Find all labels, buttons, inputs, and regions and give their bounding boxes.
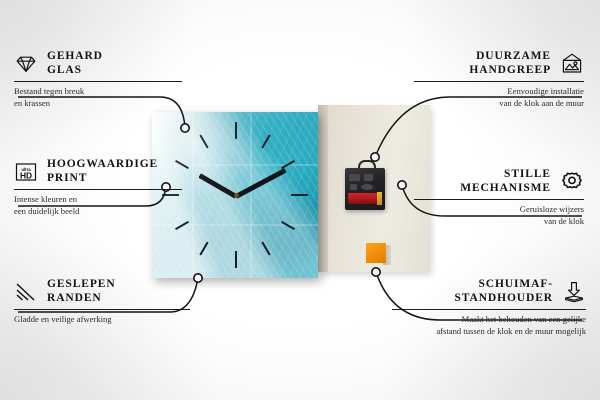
feature-hoogwaardige-print: ultra HD HOOGWAARDIGE PRINT Intense kleu… (14, 158, 184, 217)
feature-divider (414, 81, 584, 82)
mechanism-detail-d (361, 184, 373, 190)
feature-divider (14, 81, 182, 82)
feature-description: Geruisloze wijzers van de klok (412, 204, 584, 226)
feature-title: STILLE MECHANISME (412, 168, 551, 195)
diamond-icon (14, 52, 38, 76)
feature-schuimafstandhouder: SCHUIMAF- STANDHOUDER Maakt het behouden… (390, 278, 586, 337)
wall-panel-edge (318, 105, 328, 272)
down-arrow-stack-icon (562, 280, 586, 304)
foam-spacer[interactable] (366, 243, 386, 263)
ultra-hd-icon: ultra HD (14, 160, 38, 184)
feature-title: HOOGWAARDIGE PRINT (47, 158, 158, 185)
feature-divider (14, 309, 190, 310)
feature-title: DUURZAME HANDGREEP (412, 50, 551, 77)
feature-description: Eenvoudige installatie van de klok aan d… (412, 86, 584, 108)
beveled-edges-icon (14, 280, 38, 304)
feature-description: Gladde en veilige afwerking (14, 314, 192, 325)
feature-header: SCHUIMAF- STANDHOUDER (390, 278, 586, 305)
feature-title: SCHUIMAF- STANDHOUDER (390, 278, 553, 305)
feature-description: Bestand tegen breuk en krassen (14, 86, 184, 108)
feature-header: GESLEPEN RANDEN (14, 278, 192, 305)
infographic-canvas: GEHARD GLAS Bestand tegen breuk en krass… (0, 0, 600, 400)
feature-title: GESLEPEN RANDEN (47, 278, 116, 305)
feature-divider (14, 189, 182, 190)
picture-frame-icon (560, 52, 584, 76)
feature-duurzame-handgreep: DUURZAME HANDGREEP Eenvoudige installati… (412, 50, 584, 109)
gear-icon (560, 170, 584, 194)
mechanism-detail-b (364, 174, 373, 181)
feature-header: ultra HD HOOGWAARDIGE PRINT (14, 158, 184, 185)
feature-divider (414, 199, 584, 200)
feature-description: Intense kleuren en een duidelijk beeld (14, 194, 184, 216)
feature-description: Maakt het behouden van een gelijke afsta… (390, 314, 586, 336)
feature-divider (392, 309, 586, 310)
feature-title: GEHARD GLAS (47, 50, 103, 77)
feature-header: GEHARD GLAS (14, 50, 184, 77)
feature-gehard-glas: GEHARD GLAS Bestand tegen breuk en krass… (14, 50, 184, 109)
mechanism-detail-c (350, 184, 357, 190)
feature-header: DUURZAME HANDGREEP (412, 50, 584, 77)
feature-geslepen-randen: GESLEPEN RANDEN Gladde en veilige afwerk… (14, 278, 192, 326)
feature-header: STILLE MECHANISME (412, 168, 584, 195)
battery-positive-terminal (377, 192, 382, 205)
feature-stille-mechanisme: STILLE MECHANISME Geruisloze wijzers van… (412, 168, 584, 227)
mechanism-detail-a (349, 174, 360, 181)
svg-text:HD: HD (20, 170, 32, 180)
